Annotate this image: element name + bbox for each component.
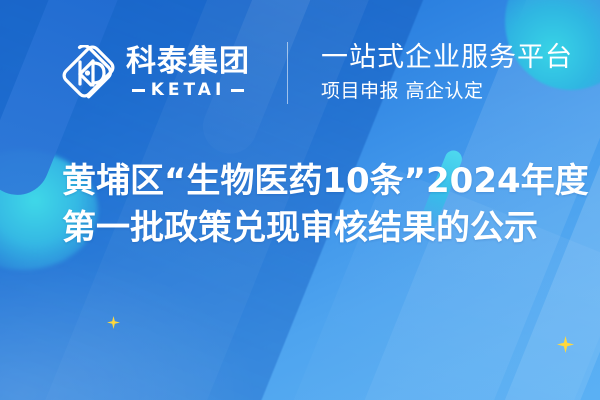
page-title-line-1: 黄埔区“生物医药10条”2024年度 xyxy=(62,158,562,205)
brand-name-en-row: KETAI xyxy=(126,82,250,99)
banner-header: 科泰集团 KETAI 一站式企业服务平台 项目申报 高企认定 xyxy=(60,42,573,104)
brand-wordmark: 科泰集团 KETAI xyxy=(126,47,250,99)
tagline-sub: 项目申报 高企认定 xyxy=(321,80,573,103)
background-glow-bottom-left xyxy=(0,250,260,400)
brand-name-cn: 科泰集团 xyxy=(126,47,250,77)
sparkle-star-icon xyxy=(107,316,120,329)
tagline-main: 一站式企业服务平台 xyxy=(321,43,573,73)
ketai-diamond-logo-icon xyxy=(60,45,116,101)
page-title-line-2: 第一批政策兑现审核结果的公示 xyxy=(62,205,562,252)
brand-logo-lockup[interactable]: 科泰集团 KETAI xyxy=(60,45,250,101)
tagline-block: 一站式企业服务平台 项目申报 高企认定 xyxy=(321,43,573,103)
page-title: 黄埔区“生物医药10条”2024年度 第一批政策兑现审核结果的公示 xyxy=(62,158,562,252)
promo-banner: 科泰集团 KETAI 一站式企业服务平台 项目申报 高企认定 黄埔区“生物医药1… xyxy=(0,0,600,400)
header-vertical-divider xyxy=(287,42,288,104)
brand-name-en: KETAI xyxy=(151,82,226,99)
wordmark-dash-right-icon xyxy=(231,89,244,92)
sparkle-star-icon xyxy=(557,336,574,353)
wordmark-dash-left-icon xyxy=(132,89,145,92)
